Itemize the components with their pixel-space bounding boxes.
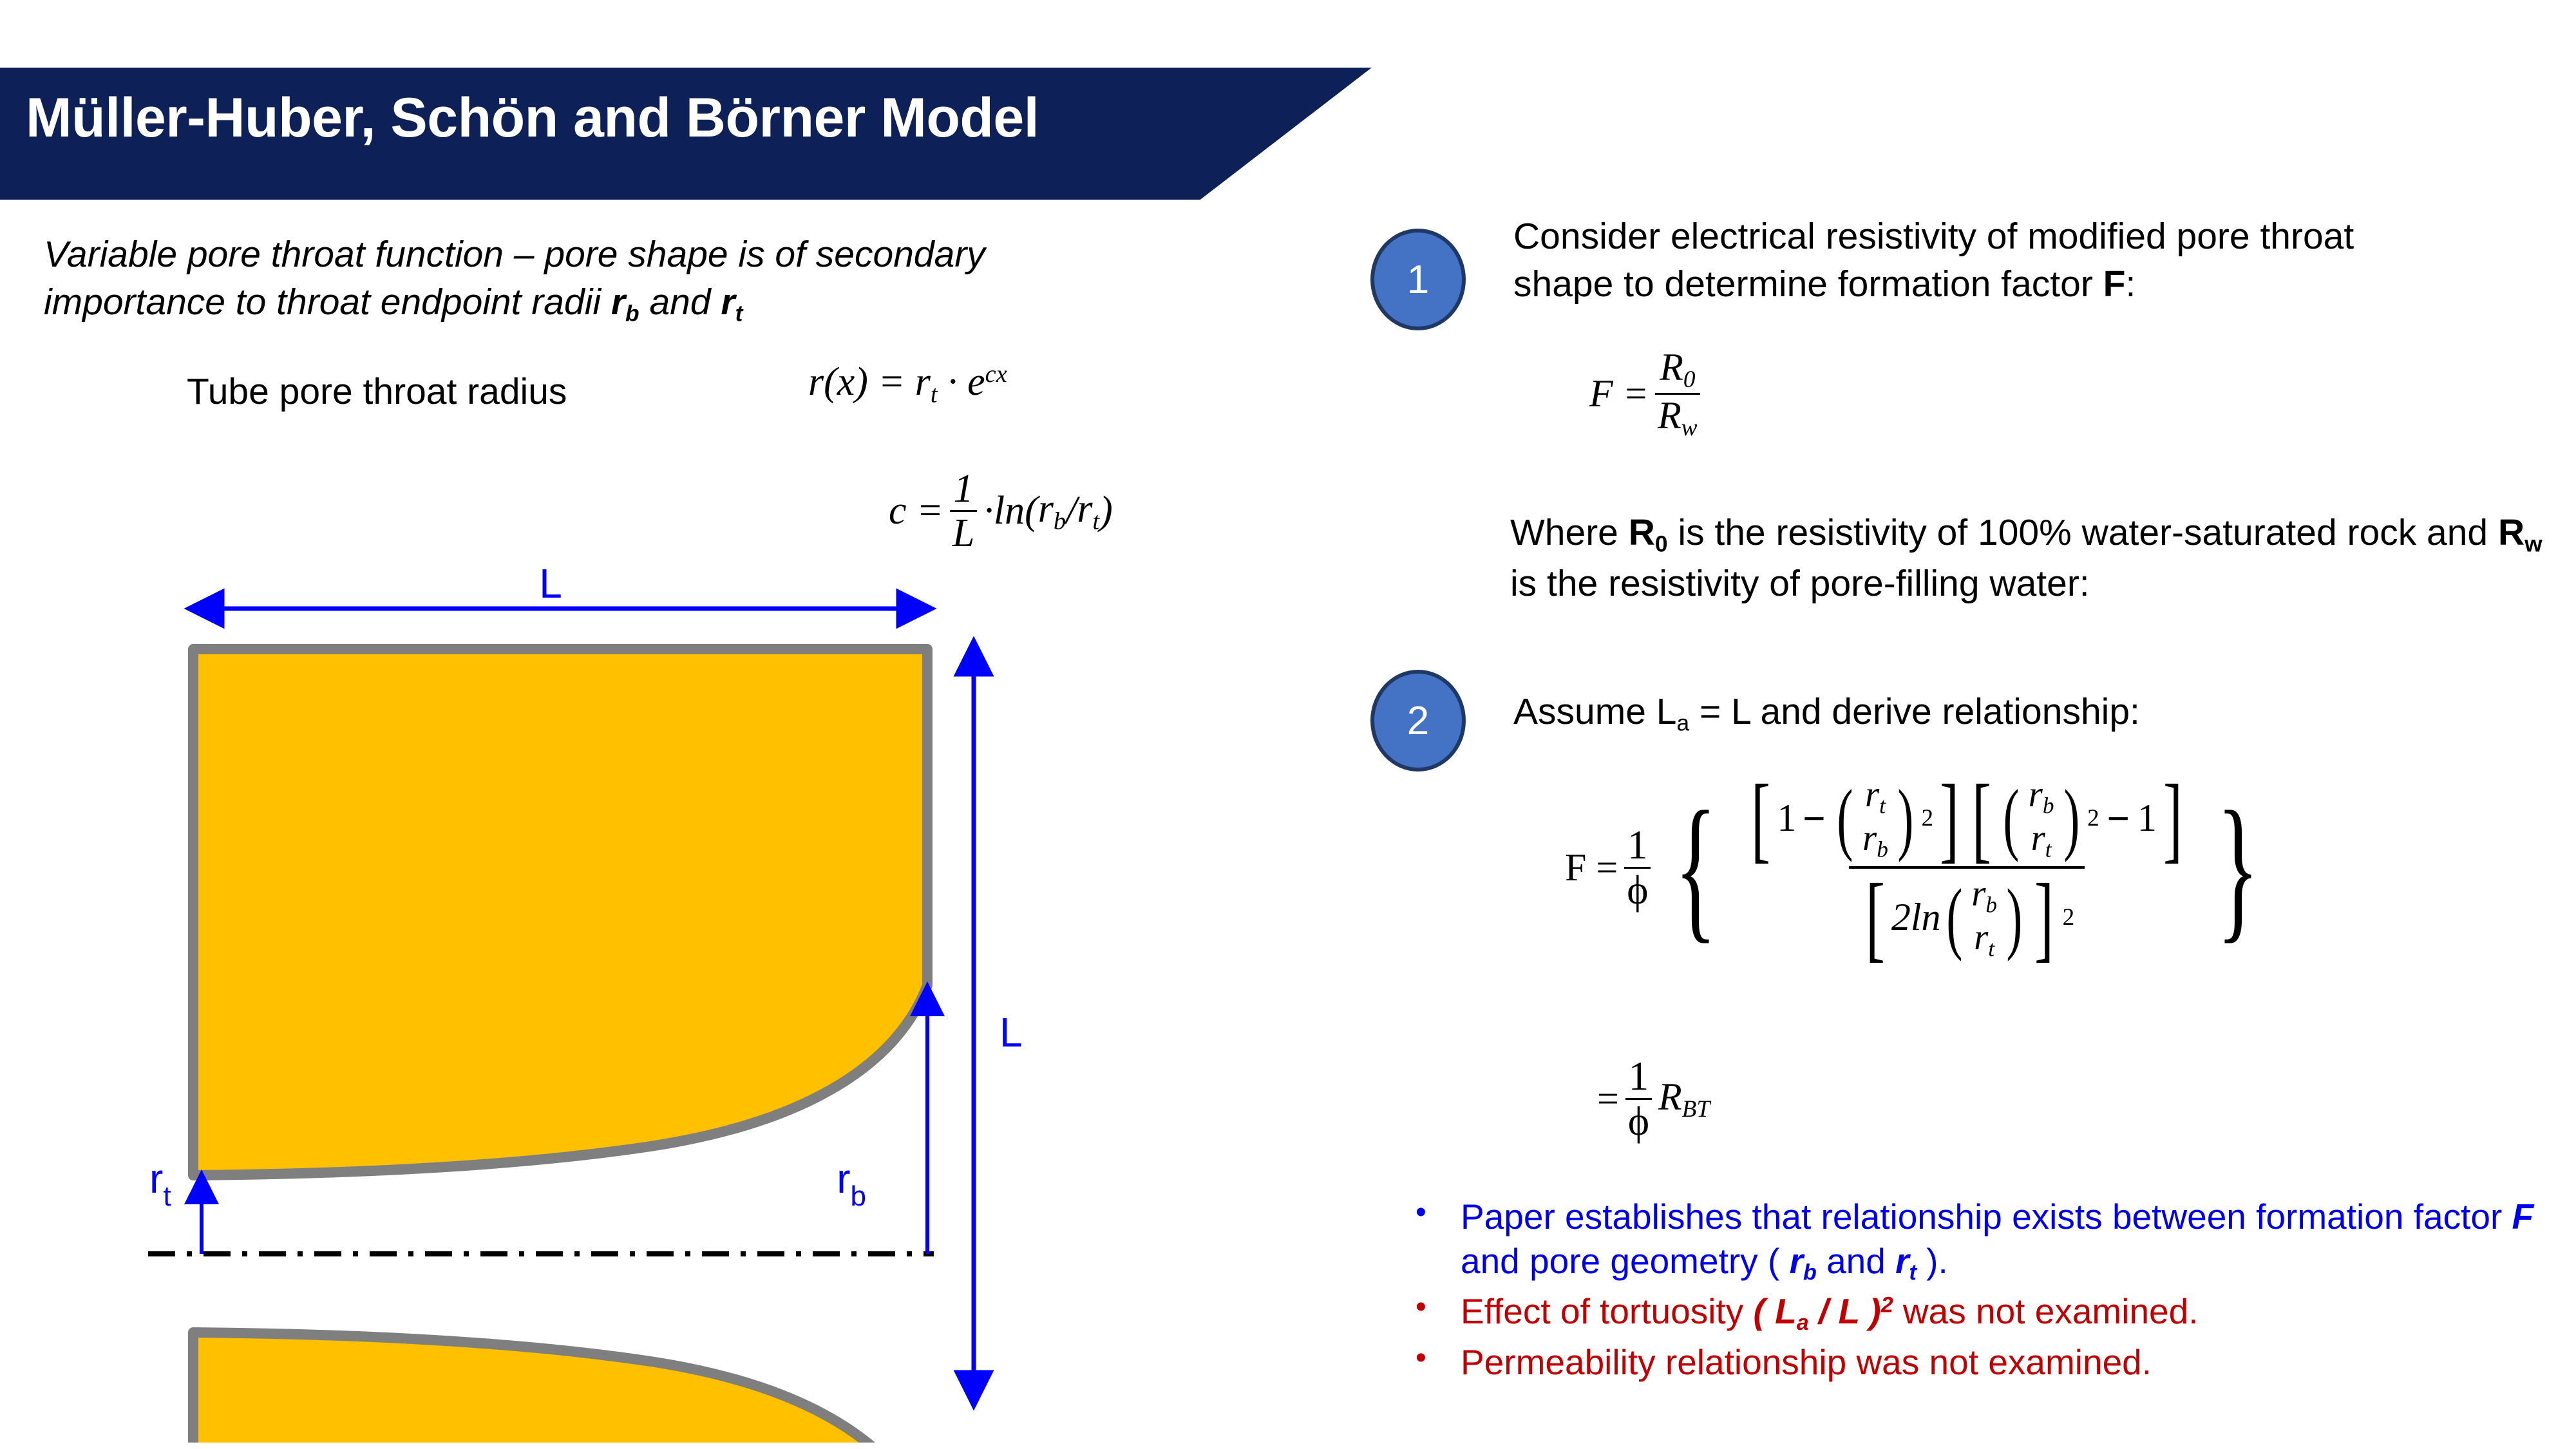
eq-big-term2-fraction: rb rt [2025, 776, 2058, 861]
symbol-rt-bullet: rt [1895, 1241, 1917, 1281]
lead-paragraph-and: and [639, 281, 721, 323]
eq-big-numerator: [ 1 − ( rt rb ) 2 ] [ ( rb rt ) 2 − 1 ] [1734, 776, 2199, 866]
equation-formation-factor: F = R0 Rw [1589, 348, 1707, 440]
step-2-text: Assume La = L and derive relationship: [1513, 688, 2570, 739]
pore-shape-lower [193, 1332, 927, 1443]
eq-big-porosity-fraction: 1 ϕ [1624, 825, 1651, 911]
eq-big-denominator: [ 2ln ( rb rt ) ] 2 [1849, 866, 2085, 960]
eq-rbt-R: RBT [1658, 1075, 1710, 1123]
symbol-rb-bullet: rb [1790, 1241, 1817, 1281]
where-description: Where R0 is the resistivity of 100% wate… [1510, 509, 2573, 607]
list-item: Effect of tortuosity ( La / L )2 was not… [1404, 1289, 2557, 1337]
dimension-label-L-vertical: L [999, 1009, 1023, 1056]
lead-paragraph-line1: Variable pore throat function – pore sha… [44, 234, 985, 275]
findings-bullet-list: Paper establishes that relationship exis… [1404, 1195, 2557, 1387]
step-badge-2: 2 [1370, 670, 1466, 772]
eq-r-rt: rt [915, 360, 938, 404]
pore-shape-upper [193, 649, 927, 1175]
eq-big-main-fraction: [ 1 − ( rt rb ) 2 ] [ ( rb rt ) 2 − 1 ] [1734, 776, 2199, 960]
eq-rbt-fraction: 1 ϕ [1625, 1056, 1652, 1142]
lead-paragraph: Variable pore throat function – pore sha… [44, 231, 1255, 329]
bracket-close-icon: ] [1940, 799, 1959, 838]
equation-formation-factor-expanded: F = 1 ϕ { [ 1 − ( rt rb ) 2 ] [ ( rb rt … [1565, 776, 2277, 960]
symbol-R0: R0 [1629, 512, 1668, 553]
eq-F-denominator: Rw [1655, 393, 1700, 440]
eq-F-fraction: R0 Rw [1655, 348, 1700, 440]
dimension-label-L-horizontal: L [539, 560, 562, 607]
tube-pore-throat-radius-label: Tube pore throat radius [187, 370, 567, 413]
eq-c-rb: rb [1038, 486, 1066, 536]
eq-F-numerator: R0 [1657, 348, 1698, 393]
step-1-line1: Consider electrical resistivity of modif… [1513, 216, 2354, 257]
symbol-F: F [2103, 263, 2126, 305]
bracket-open-3-icon: [ [1866, 898, 1885, 937]
dimension-label-rt: rt [149, 1155, 171, 1212]
paren-close-2-icon: ) [2063, 802, 2079, 835]
paren-close-3-icon: ) [2006, 902, 2022, 934]
step-badge-1: 1 [1370, 229, 1466, 330]
paren-open-3-icon: ( [1946, 902, 1962, 934]
symbol-rb: rb [611, 281, 639, 323]
symbol-rt: rt [721, 281, 743, 323]
eq-r-exp: ecx [967, 360, 1007, 404]
symbol-F-bullet: F [2512, 1197, 2534, 1236]
bracket-close-2-icon: ] [2163, 799, 2183, 838]
brace-close-icon: } [2217, 824, 2259, 913]
dimension-label-rb: rb [837, 1155, 866, 1212]
symbol-tortuosity: ( La / L )2 [1753, 1291, 1893, 1331]
paren-open-2-icon: ( [2003, 802, 2019, 835]
paren-close-icon: ) [1897, 802, 1913, 835]
page-title: Müller-Huber, Schön and Börner Model [26, 86, 1039, 150]
bracket-close-3-icon: ] [2034, 898, 2054, 937]
lead-paragraph-line2-prefix: importance to throat endpoint radii [44, 281, 611, 323]
bracket-open-icon: [ [1751, 799, 1770, 838]
eq-c-rt: rt [1077, 486, 1099, 536]
equation-tube-radius: r(x) = rt · ecx [808, 359, 1007, 409]
symbol-Rw: Rw [2498, 512, 2543, 553]
list-item: Paper establishes that relationship exis… [1404, 1195, 2557, 1287]
eq-big-denom-fraction: rb rt [1967, 875, 2001, 960]
brace-open-icon: { [1674, 824, 1717, 913]
step-1-line2: shape to determine formation factor [1513, 263, 2103, 305]
eq-big-term1-fraction: rt rb [1859, 776, 1892, 861]
list-item: Permeability relationship was not examin… [1404, 1340, 2557, 1385]
paren-open-icon: ( [1837, 802, 1853, 835]
equation-rbt: = 1 ϕ RBT [1597, 1056, 1710, 1142]
step-1-text: Consider electrical resistivity of modif… [1513, 213, 2570, 308]
pore-throat-diagram: L rt rb L [0, 541, 1159, 1443]
bracket-open-2-icon: [ [1972, 799, 1991, 838]
